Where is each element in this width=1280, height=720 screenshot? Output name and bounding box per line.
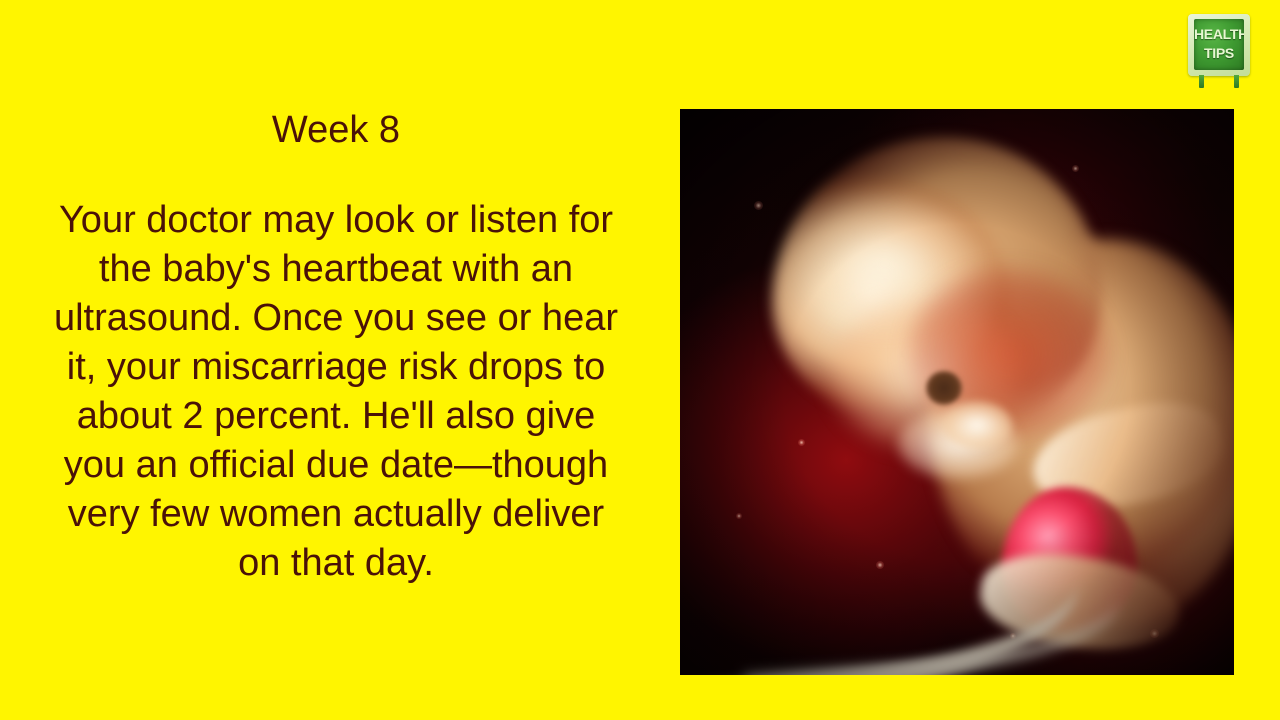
body-line: very few women actually deliver xyxy=(8,490,664,539)
page-title: Week 8 xyxy=(0,100,672,152)
brand-word-tips: TIPS xyxy=(1194,46,1244,60)
body-line: you an official due date—though xyxy=(8,441,664,490)
body-line: it, your miscarriage risk drops to xyxy=(8,343,664,392)
body-line: about 2 percent. He'll also give xyxy=(8,392,664,441)
chalkboard-leg-right-icon xyxy=(1234,75,1239,88)
body-line: Your doctor may look or listen for xyxy=(8,196,664,245)
body-line: the baby's heartbeat with an xyxy=(8,245,664,294)
chalkboard-leg-left-icon xyxy=(1199,75,1204,88)
body-line: on that day. xyxy=(8,539,664,588)
chalkboard-frame-icon: HEALTH TIPS xyxy=(1188,14,1250,76)
body-line: ultrasound. Once you see or hear xyxy=(8,294,664,343)
chalkboard-face-icon: HEALTH TIPS xyxy=(1194,19,1244,70)
fetus-image xyxy=(680,109,1234,675)
slide-root: HEALTH TIPS Week 8 Your doctor may look … xyxy=(0,0,1280,720)
photo-vignette xyxy=(680,109,1234,675)
brand-word-health: HEALTH xyxy=(1194,27,1244,41)
body-paragraph: Your doctor may look or listen for the b… xyxy=(0,152,672,588)
text-column: Week 8 Your doctor may look or listen fo… xyxy=(0,100,672,640)
health-tips-logo: HEALTH TIPS xyxy=(1186,6,1254,92)
